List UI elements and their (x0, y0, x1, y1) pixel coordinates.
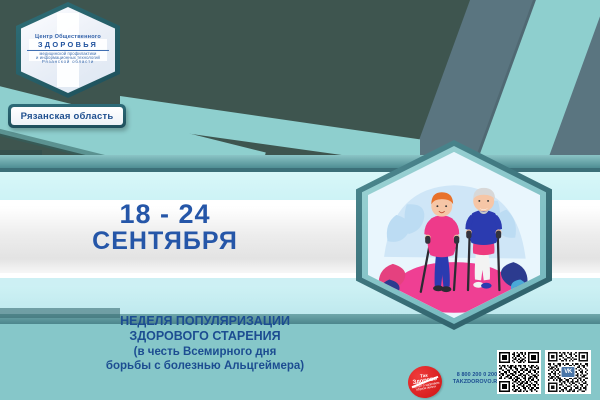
caption-line-2: ЗДОРОВОГО СТАРЕНИЯ (20, 329, 390, 344)
poster-canvas: Центр Общественного ЗДОРОВЬЯ медицинской… (0, 0, 600, 400)
logo-line-2: ЗДОРОВЬЯ (25, 41, 111, 49)
date-month: СЕНТЯБРЯ (0, 228, 330, 254)
caption-line-4: борьбы с болезнью Альцгеймера) (20, 359, 390, 373)
campaign-caption: НЕДЕЛЯ ПОПУЛЯРИЗАЦИИ ЗДОРОВОГО СТАРЕНИЯ … (20, 314, 390, 373)
organization-logo: Центр Общественного ЗДОРОВЬЯ медицинской… (16, 2, 120, 98)
qr-code-primary[interactable] (497, 350, 541, 394)
illustration-hexagon (356, 140, 552, 330)
vk-icon: VK (561, 366, 576, 378)
logo-text-block: Центр Общественного ЗДОРОВЬЯ медицинской… (25, 35, 111, 65)
region-badge: Рязанская область (8, 104, 126, 128)
date-block: 18 - 24 СЕНТЯБРЯ (0, 200, 330, 254)
caption-line-3: (в честь Всемирного дня (20, 345, 390, 359)
date-range: 18 - 24 (0, 200, 330, 228)
caption-line-1: НЕДЕЛЯ ПОПУЛЯРИЗАЦИИ (20, 314, 390, 329)
logo-line-5: Рязанской области (25, 60, 111, 65)
region-badge-label: Рязанская область (21, 111, 114, 122)
region-badge-inner: Рязанская область (11, 107, 123, 125)
qr-code-vk[interactable]: VK (545, 350, 591, 394)
